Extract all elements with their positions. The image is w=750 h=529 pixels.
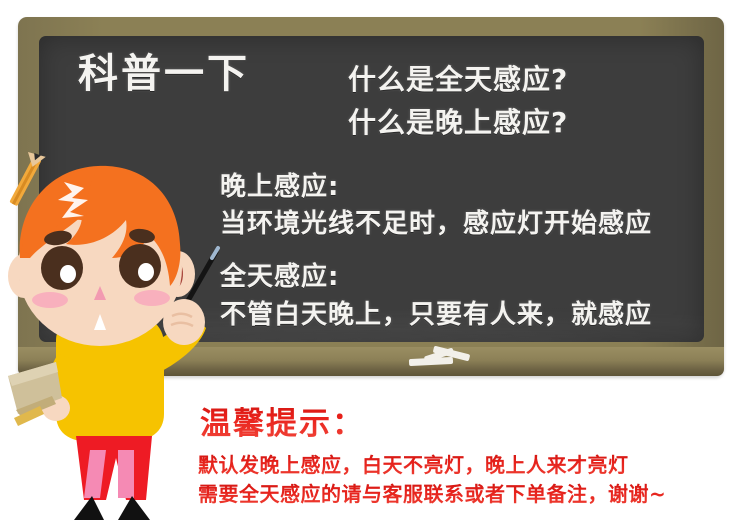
blush-left [32, 292, 68, 308]
eye-right [119, 244, 161, 288]
notice-line-1: 默认发晚上感应，白天不亮灯，晚上人来才亮灯 [198, 449, 629, 478]
board-section-2-body: 不管白天晚上，只要有人来，就感应 [220, 294, 652, 331]
board-section-1-body: 当环境光线不足时，感应灯开始感应 [220, 203, 652, 240]
promo-infographic: 科普一下 什么是全天感应? 什么是晚上感应? 晚上感应: 当环境光线不足时，感应… [0, 0, 750, 529]
board-question-2: 什么是晚上感应? [348, 101, 568, 141]
board-question-1: 什么是全天感应? [348, 58, 568, 98]
blush-right [134, 290, 170, 306]
notice-title: 温馨提示： [200, 398, 365, 443]
board-title: 科普一下 [78, 41, 250, 99]
eye-left [41, 246, 83, 290]
pants-highlight-right [118, 450, 134, 498]
notice-line-2: 需要全天感应的请与客服联系或者下单备注，谢谢~ [198, 478, 666, 507]
